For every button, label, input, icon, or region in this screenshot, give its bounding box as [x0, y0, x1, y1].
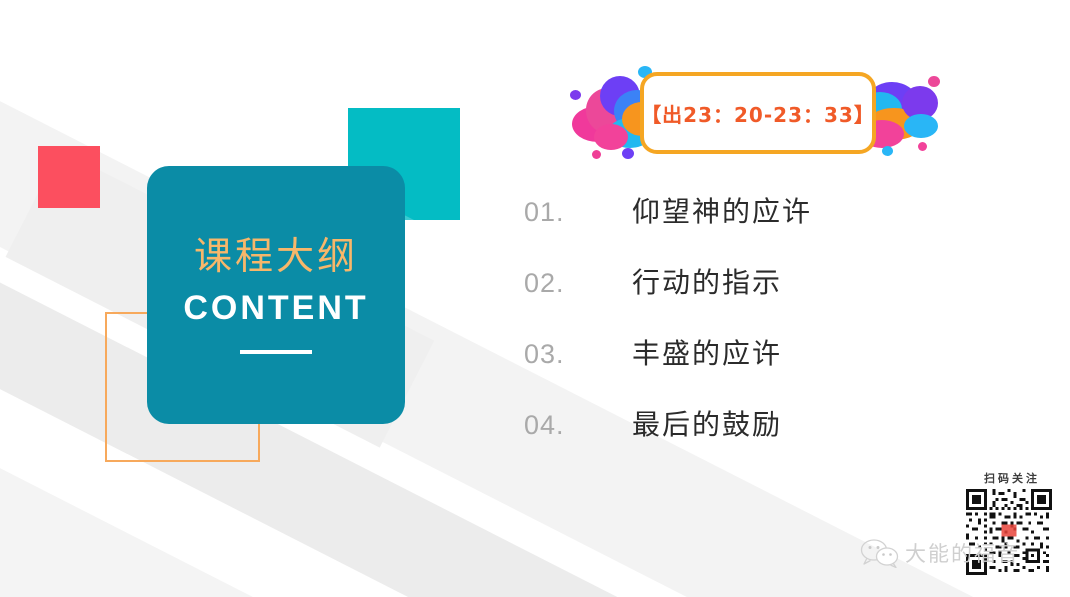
agenda-item-number: 04. — [524, 410, 632, 441]
wechat-logo-icon — [860, 538, 900, 568]
agenda-item-number: 03. — [524, 339, 632, 370]
splatter-dot-purple-left — [570, 90, 581, 100]
wechat-account-name: 大能的福音 — [905, 538, 1020, 568]
wechat-watermark: 大能的福音 — [860, 538, 1020, 568]
splatter-blob-pink-left-lower — [594, 124, 628, 150]
splatter-dot-pink-right-bottom — [918, 142, 927, 151]
card-title-en: CONTENT — [183, 289, 368, 328]
scripture-reference-text: 【出23：20-23：33】 — [641, 99, 875, 128]
splatter-blob-cyan-right-far — [904, 114, 938, 138]
splatter-dot-cyan-right-bottom — [882, 146, 893, 156]
agenda-item-number: 02. — [524, 268, 632, 299]
slide-canvas: 课程大纲 CONTENT 【出23：20-23：33】 01. — [0, 0, 1070, 597]
qr-caption: 扫码关注 — [966, 470, 1058, 486]
list-item[interactable]: 01. 仰望神的应许 — [524, 190, 944, 261]
splatter-dot-purple-left-bottom — [622, 148, 634, 159]
splatter-dot-pink-left-bottom — [592, 150, 601, 159]
decorative-square-pink — [38, 146, 100, 208]
list-item[interactable]: 02. 行动的指示 — [524, 261, 944, 332]
list-item[interactable]: 03. 丰盛的应许 — [524, 332, 944, 403]
scripture-banner: 【出23：20-23：33】 — [566, 62, 956, 166]
splatter-dot-pink-right — [928, 76, 940, 87]
agenda-list: 01. 仰望神的应许 02. 行动的指示 03. 丰盛的应许 04. 最后的鼓励 — [524, 190, 944, 474]
agenda-item-label: 丰盛的应许 — [632, 332, 782, 372]
agenda-item-number: 01. — [524, 197, 632, 228]
card-divider — [240, 350, 312, 354]
scripture-banner-box: 【出23：20-23：33】 — [640, 72, 876, 154]
content-title-card: 课程大纲 CONTENT — [147, 166, 405, 424]
agenda-item-label: 最后的鼓励 — [632, 403, 782, 443]
list-item[interactable]: 04. 最后的鼓励 — [524, 403, 944, 474]
agenda-item-label: 仰望神的应许 — [632, 190, 812, 230]
card-title-cn: 课程大纲 — [194, 236, 358, 280]
agenda-item-label: 行动的指示 — [632, 261, 782, 301]
